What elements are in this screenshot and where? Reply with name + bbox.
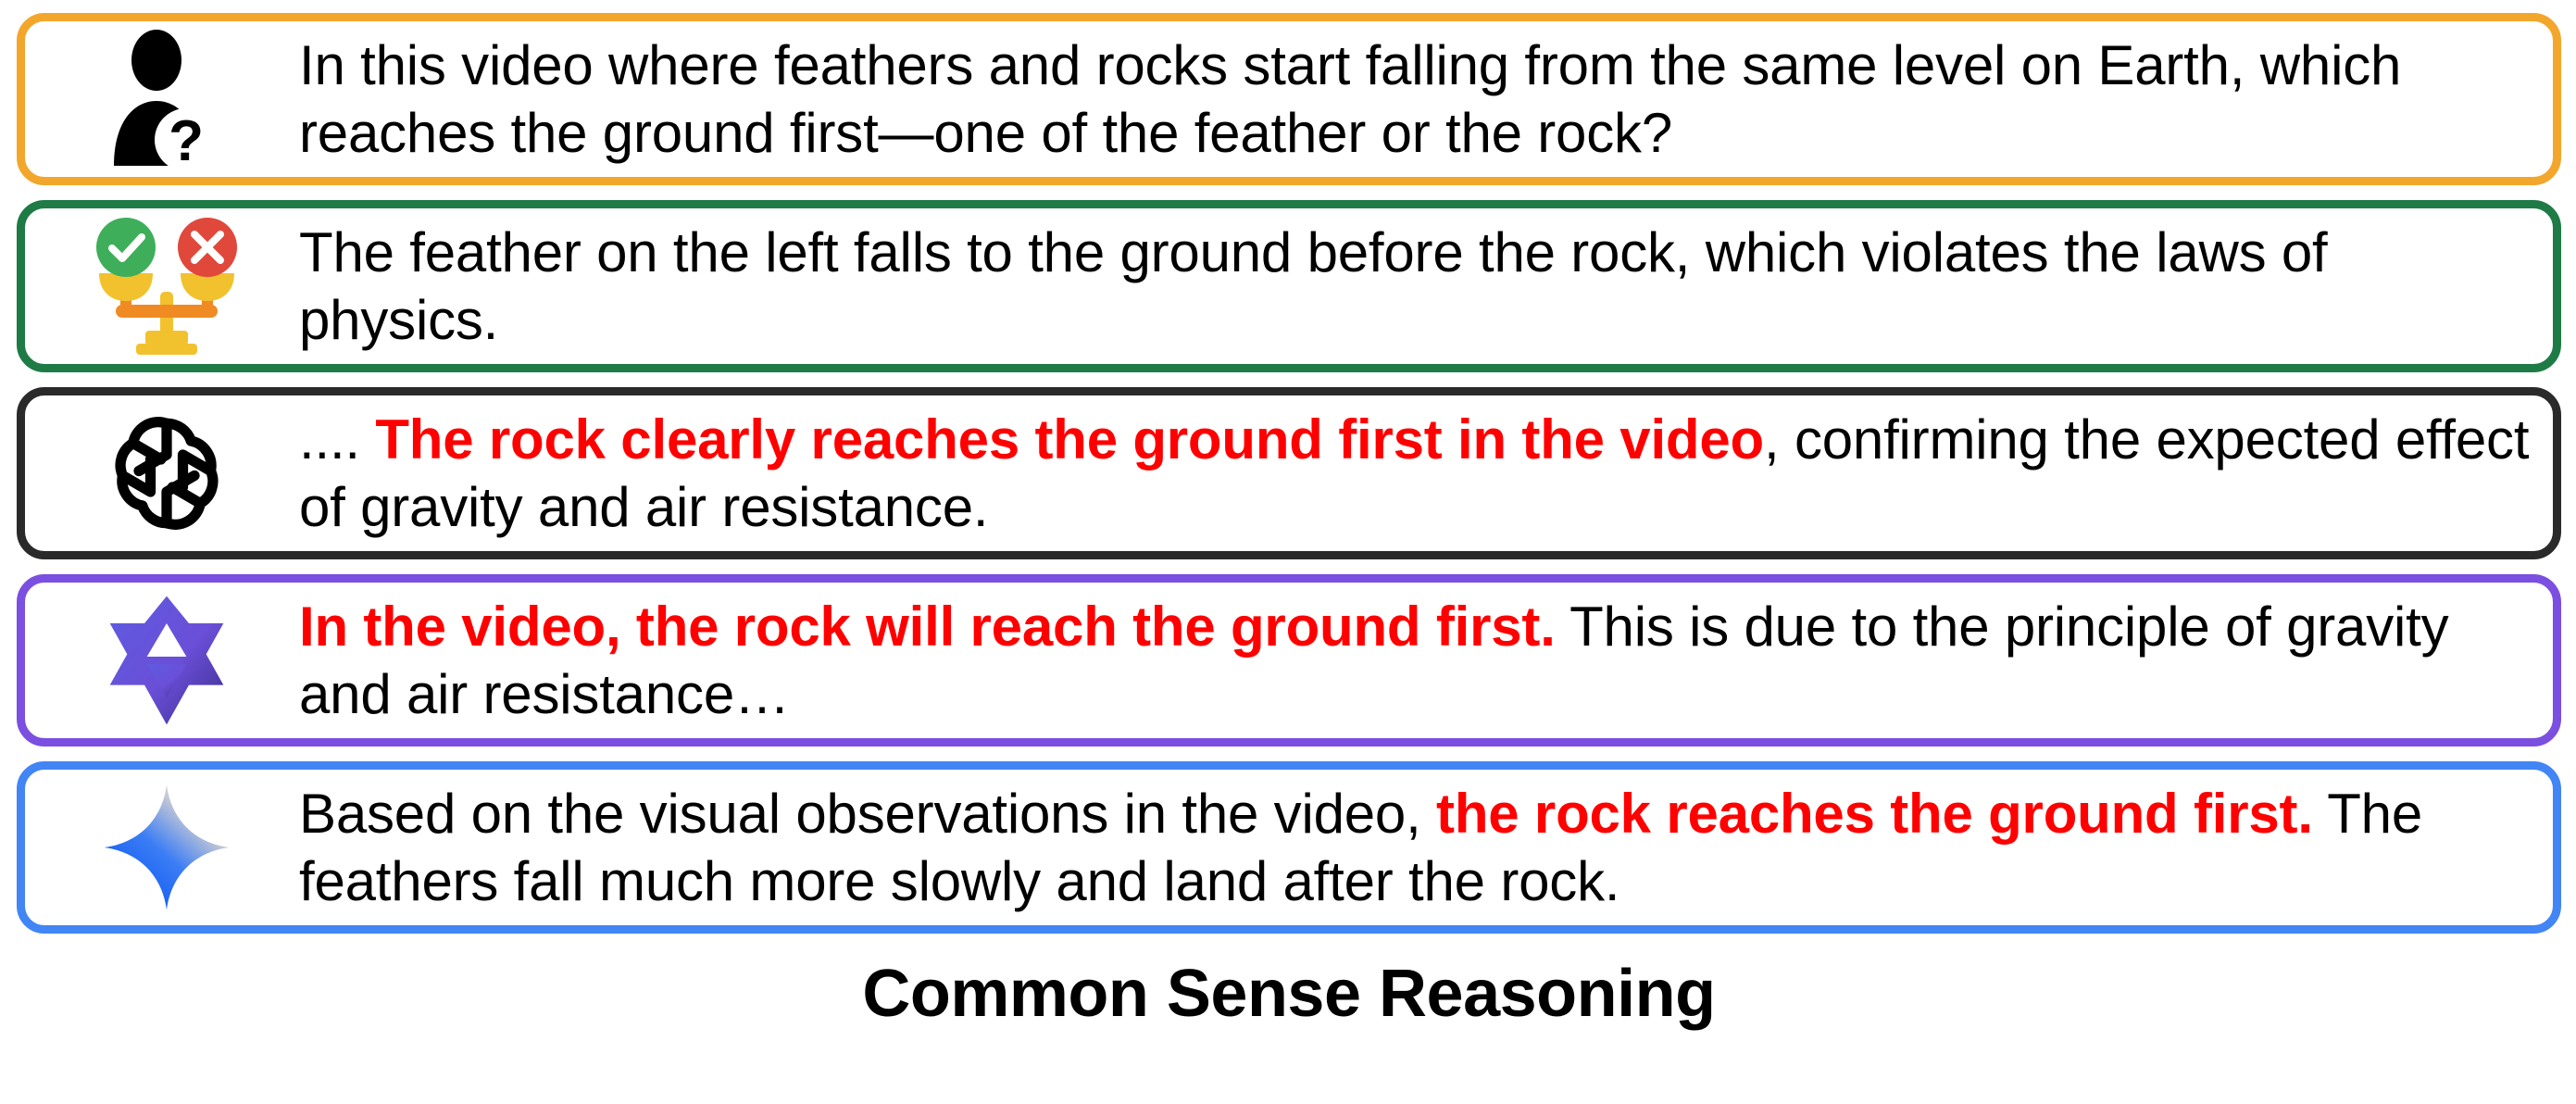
row-text: In the video, the rock will reach the gr… [299,593,2536,728]
highlighted-text: the rock reaches the ground first. [1436,783,2313,845]
svg-text:?: ? [169,109,204,173]
plain-text: In this video where feathers and rocks s… [299,34,2401,164]
qwen-logo-icon [34,586,299,734]
plain-text: .... [299,408,375,470]
row-text: Based on the visual observations in the … [299,780,2536,915]
qa-row-openai: .... The rock clearly reaches the ground… [17,387,2561,559]
highlighted-text: In the video, the rock will reach the gr… [299,596,1556,658]
row-text: .... The rock clearly reaches the ground… [299,406,2536,541]
qa-row-question: ? In this video where feathers and rocks… [17,13,2561,185]
openai-logo-icon [34,399,299,547]
balance-scale-check-x-icon [34,212,299,360]
plain-text: The feather on the left falls to the gro… [299,221,2328,351]
qa-row-gemini: Based on the visual observations in the … [17,761,2561,934]
common-sense-reasoning-figure: ? In this video where feathers and rocks… [0,0,2576,1104]
row-text: In this video where feathers and rocks s… [299,31,2536,167]
plain-text: Based on the visual observations in the … [299,783,1436,845]
highlighted-text: The rock clearly reaches the ground firs… [375,408,1764,470]
figure-caption-wrap: Common Sense Reasoning [17,956,2561,1032]
row-text: The feather on the left falls to the gro… [299,219,2536,354]
qa-row-qwen: In the video, the rock will reach the gr… [17,574,2561,746]
user-question-icon: ? [34,25,299,173]
gemini-star-icon [34,773,299,922]
page-title: Common Sense Reasoning [17,956,2561,1032]
qa-row-ground-truth: The feather on the left falls to the gro… [17,200,2561,372]
